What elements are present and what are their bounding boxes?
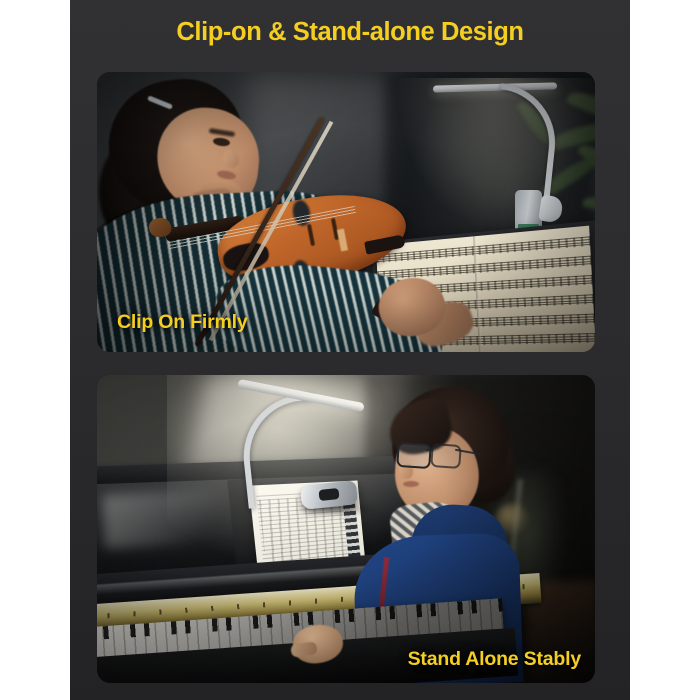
product-feature-image: Clip-on & Stand-alone Design — [0, 0, 700, 700]
page-title: Clip-on & Stand-alone Design — [70, 18, 630, 47]
photo-clip-on: Clip On Firmly — [97, 72, 595, 352]
caption-clip-on: Clip On Firmly — [117, 311, 247, 334]
glasses-lens-right — [430, 443, 462, 469]
caption-stand-alone: Stand Alone Stably — [408, 648, 581, 671]
scene-piano — [97, 375, 595, 683]
lips — [403, 481, 419, 487]
glasses-lens-left — [396, 442, 432, 469]
nose — [223, 150, 239, 168]
clip-lever — [318, 488, 339, 501]
scene-violinist — [97, 72, 595, 352]
glasses-bridge — [426, 449, 433, 452]
photo-stand-alone: Stand Alone Stably — [97, 375, 595, 683]
